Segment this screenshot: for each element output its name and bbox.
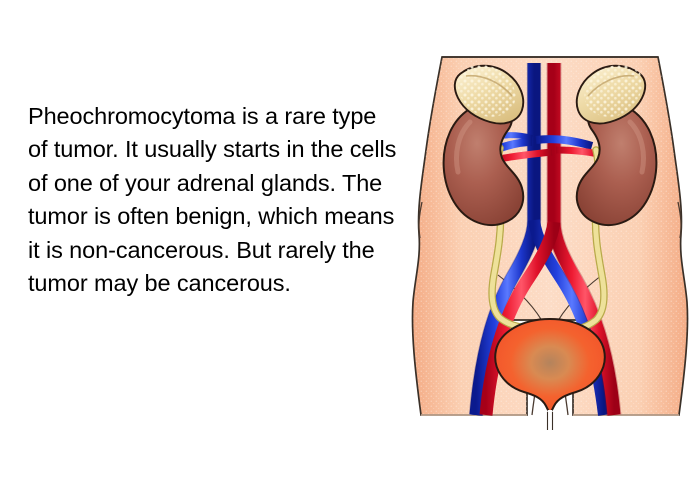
anatomy-illustration: [400, 30, 700, 430]
text-panel: Pheochromocytoma is a rare type of tumor…: [28, 100, 400, 300]
page-root: Pheochromocytoma is a rare type of tumor…: [0, 0, 700, 480]
page-title: Pheochromocytoma is a rare type of tumor…: [28, 100, 400, 300]
anatomy-svg: [400, 30, 700, 430]
